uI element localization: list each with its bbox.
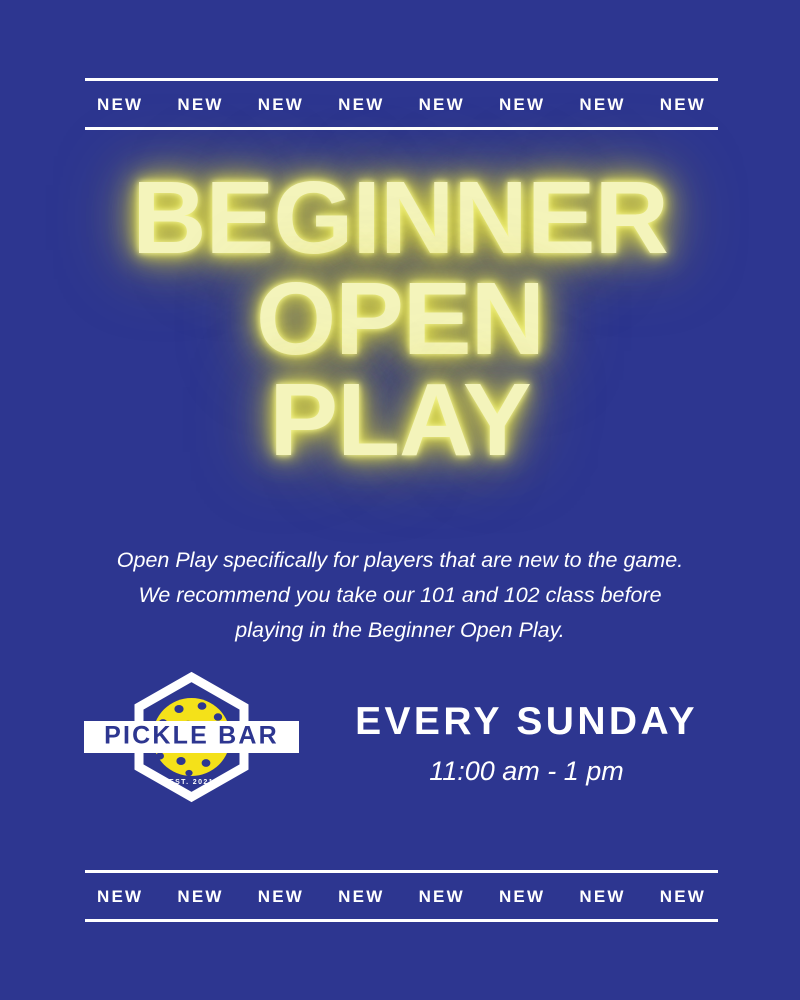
event-day: EVERY SUNDAY (337, 702, 717, 741)
banner-word: NEW (97, 888, 143, 905)
bottom-new-banner: NEW NEW NEW NEW NEW NEW NEW NEW (85, 870, 718, 922)
banner-word: NEW (338, 96, 384, 113)
top-banner-words: NEW NEW NEW NEW NEW NEW NEW NEW (85, 81, 718, 127)
logo-wordmark: PICKLE BAR (104, 722, 279, 750)
banner-rule-bottom (85, 127, 718, 130)
info-row: PICKLE BAR EST. 2021 EVERY SUNDAY 11:00 … (0, 668, 800, 818)
banner-word: NEW (660, 96, 706, 113)
banner-word: NEW (499, 888, 545, 905)
banner-word: NEW (177, 888, 223, 905)
bottom-banner-words: NEW NEW NEW NEW NEW NEW NEW NEW (85, 873, 718, 919)
logo-established: EST. 2021 (169, 779, 214, 786)
banner-word: NEW (258, 96, 304, 113)
banner-word: NEW (258, 888, 304, 905)
banner-word: NEW (419, 888, 465, 905)
banner-word: NEW (338, 888, 384, 905)
banner-word: NEW (499, 96, 545, 113)
banner-word: NEW (419, 96, 465, 113)
banner-word: NEW (579, 96, 625, 113)
banner-rule-bottom (85, 919, 718, 922)
page-title: BEGINNER OPEN PLAY (0, 168, 800, 471)
banner-word: NEW (177, 96, 223, 113)
headline-line-3: PLAY (0, 370, 800, 471)
banner-word: NEW (579, 888, 625, 905)
pickle-bar-logo: PICKLE BAR EST. 2021 (84, 669, 299, 817)
headline-line-1: BEGINNER (0, 168, 800, 269)
banner-word: NEW (660, 888, 706, 905)
flyer-poster: NEW NEW NEW NEW NEW NEW NEW NEW BEGINNER… (0, 0, 800, 1000)
banner-word: NEW (97, 96, 143, 113)
description-text: Open Play specifically for players that … (110, 543, 690, 647)
headline-line-2: OPEN (0, 269, 800, 370)
logo-svg: PICKLE BAR EST. 2021 (84, 669, 299, 817)
event-details: EVERY SUNDAY 11:00 am - 1 pm (337, 702, 717, 785)
event-time: 11:00 am - 1 pm (337, 758, 717, 785)
top-new-banner: NEW NEW NEW NEW NEW NEW NEW NEW (85, 78, 718, 130)
